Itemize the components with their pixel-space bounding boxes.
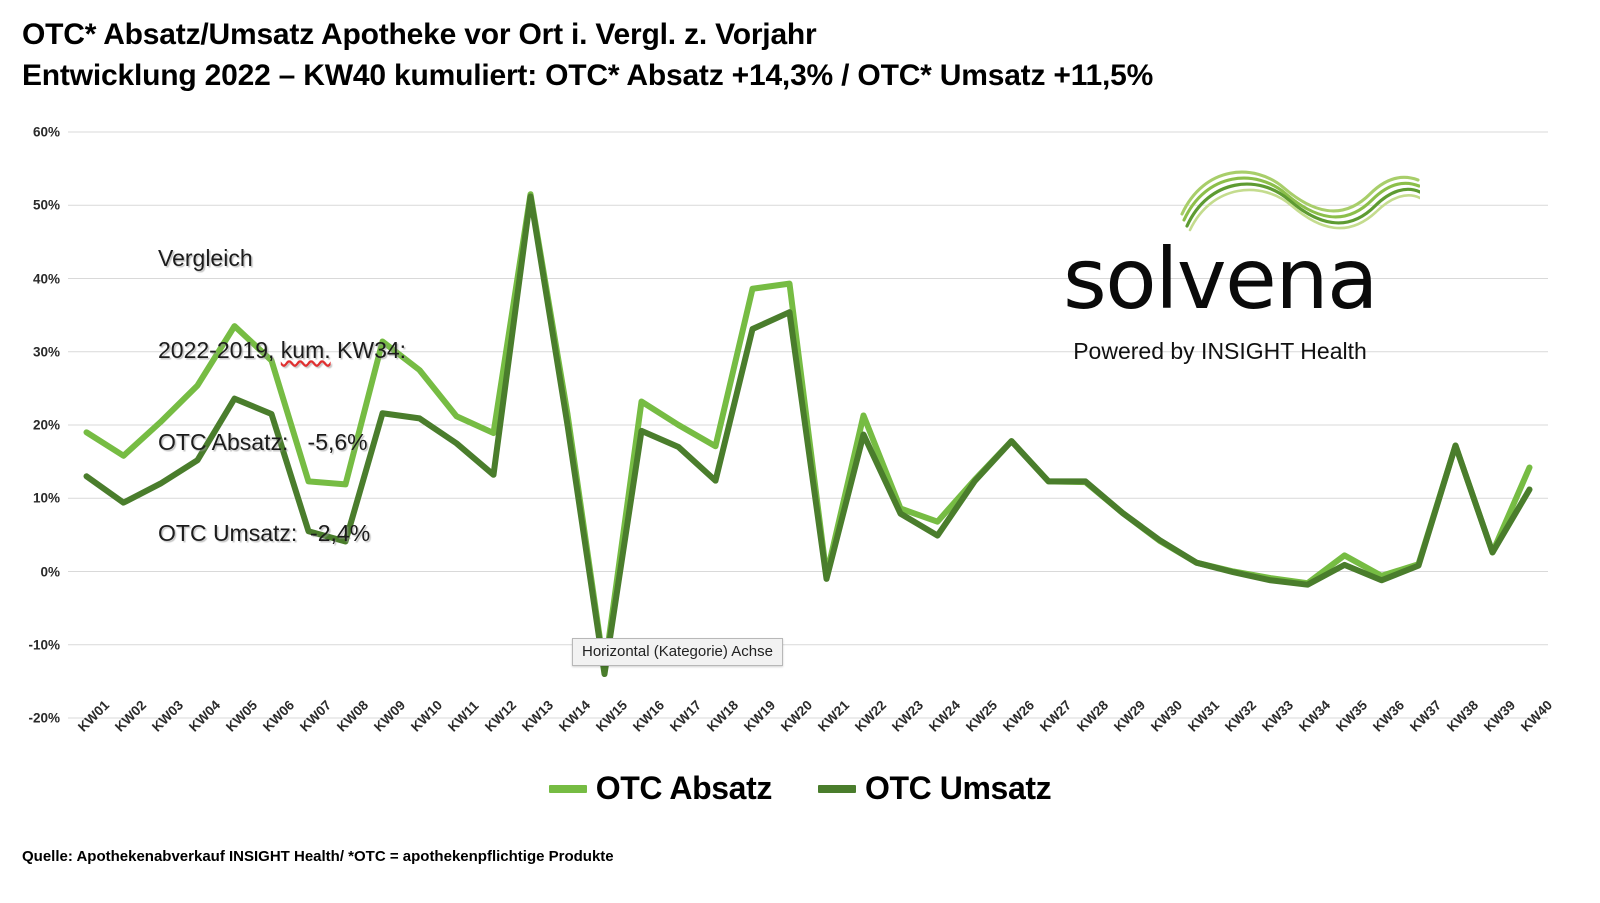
legend-item-absatz[interactable]: OTC Absatz xyxy=(549,770,772,807)
y-axis-tick-label: 20% xyxy=(33,418,60,433)
axis-tooltip: Horizontal (Kategorie) Achse xyxy=(572,638,783,666)
title-line-2: Entwicklung 2022 – KW40 kumuliert: OTC* … xyxy=(22,55,1522,96)
y-axis-tick-label: 60% xyxy=(33,125,60,140)
annotation-line-4: OTC Umsatz: -2,4% xyxy=(158,518,406,549)
y-axis-tick-label: 30% xyxy=(33,344,60,359)
solvena-logo: solvena Powered by INSIGHT Health xyxy=(1020,168,1420,368)
y-axis-tick-label: 10% xyxy=(33,491,60,506)
legend-swatch-umsatz xyxy=(818,785,856,793)
legend-swatch-absatz xyxy=(549,785,587,793)
logo-wordmark: solvena xyxy=(1020,240,1420,320)
logo-tagline: Powered by INSIGHT Health xyxy=(1020,338,1420,365)
y-axis-tick-label: -10% xyxy=(28,637,60,652)
legend-item-umsatz[interactable]: OTC Umsatz xyxy=(818,770,1051,807)
source-footnote: Quelle: Apothekenabverkauf INSIGHT Healt… xyxy=(22,848,614,865)
legend-label-umsatz: OTC Umsatz xyxy=(865,770,1051,807)
legend-label-absatz: OTC Absatz xyxy=(596,770,772,807)
annotation-line-2: 2022-2019, kum. KW34: xyxy=(158,335,406,366)
wave-swoosh-icon xyxy=(1180,168,1420,234)
chart-legend[interactable]: OTC Absatz OTC Umsatz xyxy=(0,770,1600,807)
comparison-annotation: Vergleich 2022-2019, kum. KW34: OTC Absa… xyxy=(158,182,406,580)
y-axis-tick-label: 50% xyxy=(33,198,60,213)
annotation-line-3: OTC Absatz: -5,6% xyxy=(158,427,406,458)
y-axis-tick-label: 40% xyxy=(33,271,60,286)
y-axis[interactable]: 60%50%40%30%20%10%0%-10%-20% xyxy=(0,132,60,718)
y-axis-tick-label: 0% xyxy=(40,564,60,579)
title-line-1: OTC* Absatz/Umsatz Apotheke vor Ort i. V… xyxy=(22,14,1522,55)
page-title: OTC* Absatz/Umsatz Apotheke vor Ort i. V… xyxy=(22,14,1522,97)
annotation-line-1: Vergleich xyxy=(158,243,406,274)
